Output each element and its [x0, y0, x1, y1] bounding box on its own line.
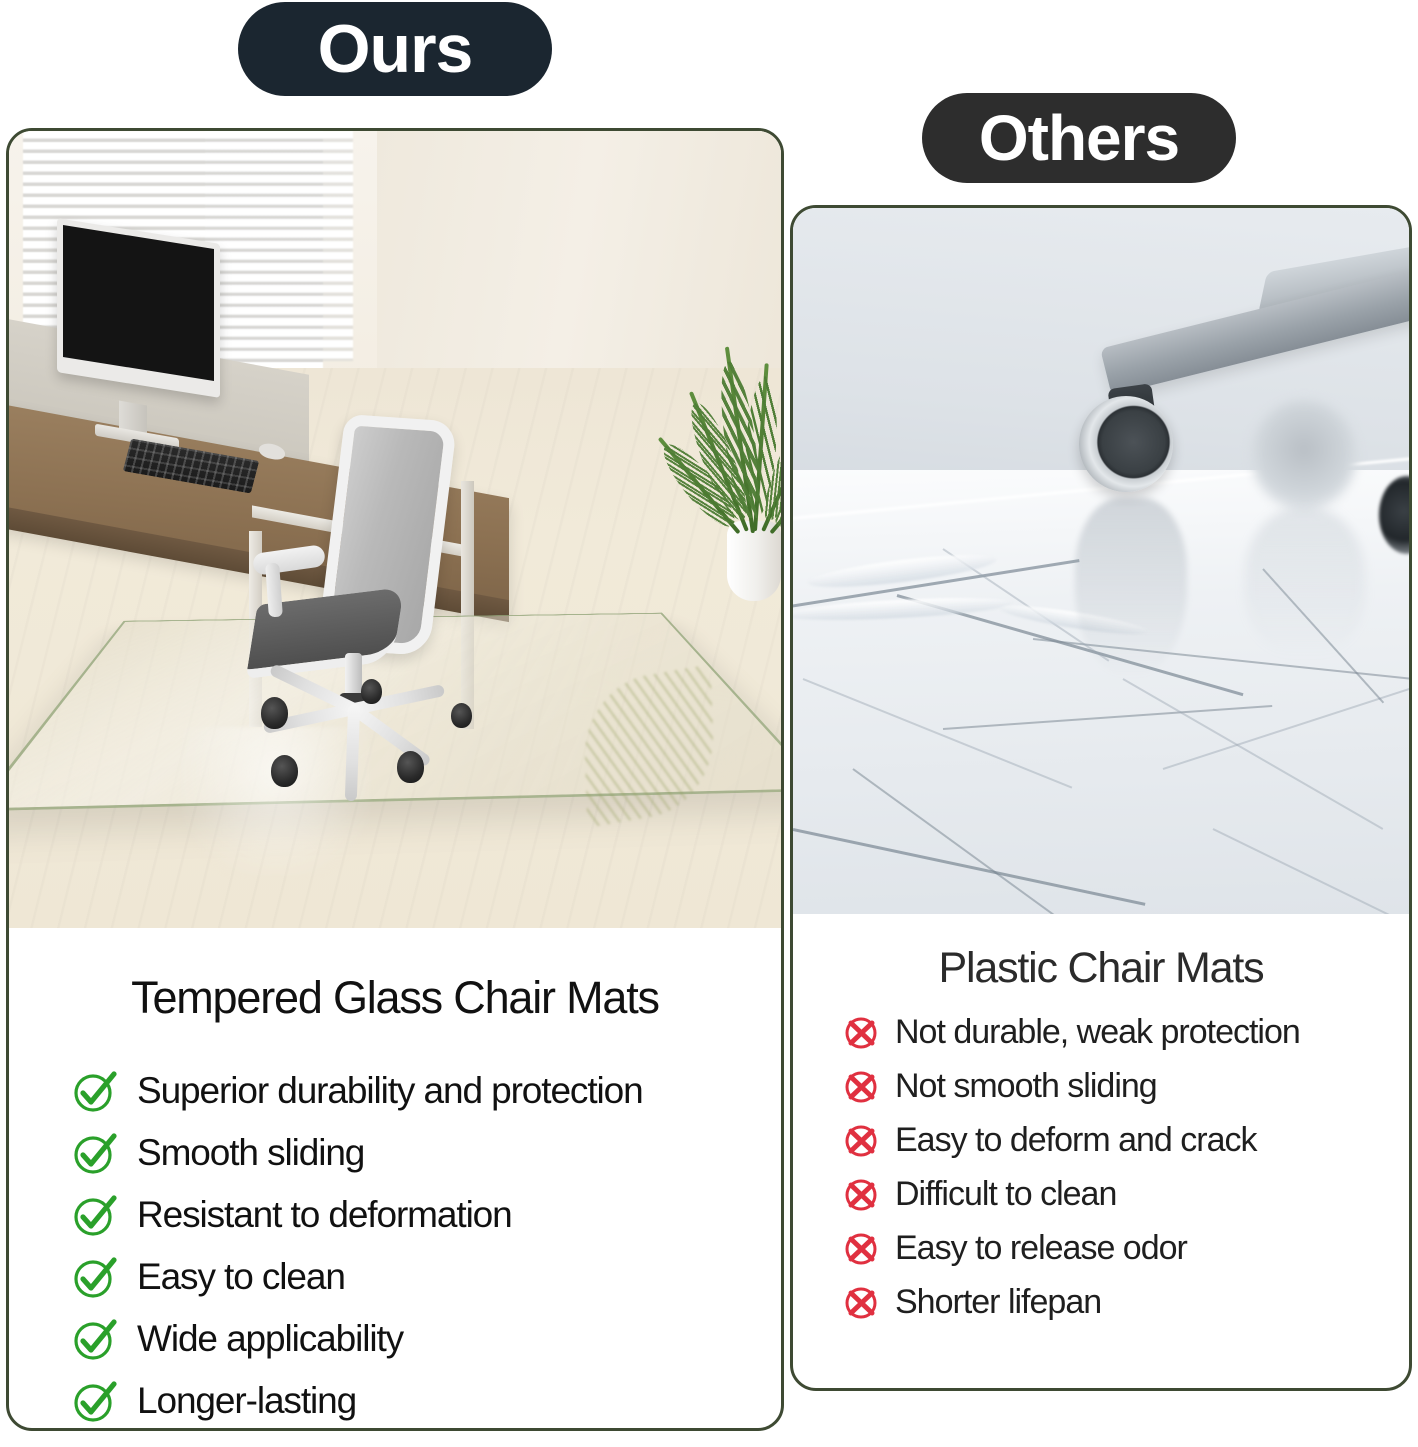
chair-caster [271, 755, 298, 787]
ours-product-photo [9, 131, 781, 928]
list-item-label: Easy to release odor [895, 1229, 1187, 1268]
monitor-icon [57, 218, 220, 398]
check-circle-icon [71, 1129, 119, 1177]
cross-circle-icon [841, 1174, 881, 1214]
list-item: Superior durability and protection [71, 1060, 781, 1122]
ours-card: Tempered Glass Chair Mats Superior durab… [6, 128, 784, 1431]
others-title: Plastic Chair Mats [793, 944, 1409, 993]
cross-circle-icon [841, 1012, 881, 1052]
ours-feature-list: Superior durability and protection Smoot… [9, 1060, 781, 1431]
caster-reflection [1075, 498, 1187, 678]
list-item-label: Superior durability and protection [137, 1070, 643, 1112]
chair-caster [397, 751, 424, 783]
cross-circle-icon [841, 1120, 881, 1160]
list-item-label: Not durable, weak protection [895, 1013, 1300, 1052]
check-circle-icon [71, 1191, 119, 1239]
others-card: Plastic Chair Mats Not durable, weak pro… [790, 205, 1412, 1391]
cross-circle-icon [841, 1066, 881, 1106]
check-circle-icon [71, 1067, 119, 1115]
others-feature-list: Not durable, weak protection Not smooth … [793, 1005, 1409, 1329]
list-item: Resistant to deformation [71, 1184, 781, 1246]
list-item-label: Easy to clean [137, 1256, 345, 1298]
list-item-label: Wide applicability [137, 1318, 403, 1360]
list-item: Easy to release odor [841, 1221, 1409, 1275]
list-item: Difficult to clean [841, 1167, 1409, 1221]
others-text-block: Plastic Chair Mats Not durable, weak pro… [793, 944, 1409, 1329]
list-item: Not smooth sliding [841, 1059, 1409, 1113]
list-item-label: Easy to deform and crack [895, 1121, 1257, 1160]
others-product-photo [793, 208, 1409, 914]
caster-reflection-secondary [1245, 508, 1365, 658]
list-item: Not durable, weak protection [841, 1005, 1409, 1059]
check-circle-icon [71, 1377, 119, 1425]
list-item: Smooth sliding [71, 1122, 781, 1184]
list-item: Longer-lasting [71, 1370, 781, 1431]
list-item-label: Smooth sliding [137, 1132, 364, 1174]
chair-caster [261, 697, 288, 729]
list-item: Shorter lifepan [841, 1275, 1409, 1329]
check-circle-icon [71, 1253, 119, 1301]
list-item: Easy to clean [71, 1246, 781, 1308]
cross-circle-icon [841, 1228, 881, 1268]
chair-caster [361, 679, 382, 704]
window-blinds-secondary-icon [205, 131, 353, 361]
list-item-label: Longer-lasting [137, 1380, 356, 1422]
list-item: Wide applicability [71, 1308, 781, 1370]
chair-caster-blurred [1251, 400, 1357, 510]
ours-badge: Ours [238, 2, 552, 96]
comparison-infographic: Tempered Glass Chair Mats Superior durab… [0, 0, 1418, 1447]
chair-reflection-on-glass [181, 727, 371, 877]
check-circle-icon [71, 1315, 119, 1363]
list-item-label: Shorter lifepan [895, 1283, 1101, 1322]
cross-circle-icon [841, 1282, 881, 1322]
list-item-label: Resistant to deformation [137, 1194, 512, 1236]
list-item-label: Not smooth sliding [895, 1067, 1157, 1106]
list-item-label: Difficult to clean [895, 1175, 1116, 1214]
list-item: Easy to deform and crack [841, 1113, 1409, 1167]
others-badge: Others [922, 93, 1236, 183]
chair-caster [1079, 396, 1173, 492]
chair-caster [451, 703, 472, 728]
ours-title: Tempered Glass Chair Mats [9, 972, 781, 1024]
ours-text-block: Tempered Glass Chair Mats Superior durab… [9, 972, 781, 1431]
